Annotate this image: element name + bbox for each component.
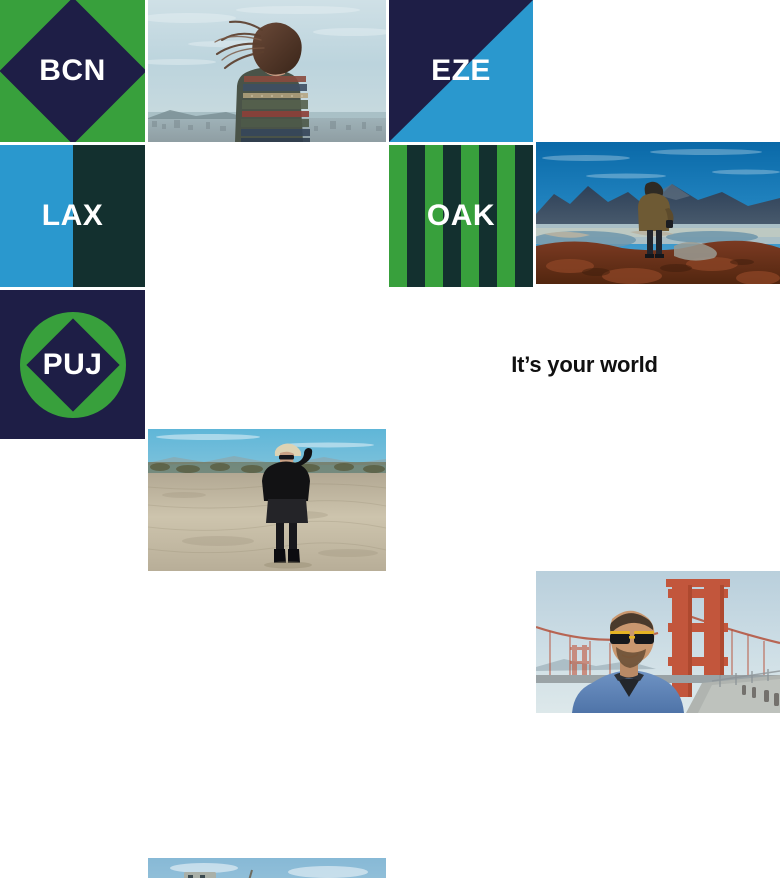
airport-code-puj: PUJ (43, 350, 103, 380)
airport-code-oak: OAK (427, 201, 495, 231)
airport-code-lax: LAX (42, 201, 104, 231)
photo-shipwreck-image (148, 858, 386, 878)
tile-eze[interactable]: EZE (389, 0, 533, 142)
photo-shipwreck[interactable] (148, 858, 386, 878)
brand-tagline: It’s your world (511, 352, 658, 378)
tile-oak[interactable]: OAK (389, 145, 533, 287)
photo-barcelona[interactable] (148, 0, 386, 142)
photo-goldengate[interactable] (536, 571, 780, 713)
photo-desert[interactable] (148, 429, 386, 571)
airport-code-eze: EZE (431, 56, 491, 86)
tagline-tile: It’s your world (389, 290, 780, 439)
photo-goldengate-image (536, 571, 780, 713)
photo-altiplano[interactable] (536, 142, 780, 284)
tile-puj[interactable]: PUJ (0, 290, 145, 439)
photo-altiplano-image (536, 142, 780, 284)
airport-code-bcn: BCN (39, 56, 106, 86)
tile-lax[interactable]: LAX (0, 145, 145, 287)
photo-barcelona-image (148, 0, 386, 142)
brand-collage-board: BCN (0, 0, 780, 439)
photo-desert-image (148, 429, 386, 571)
tile-bcn[interactable]: BCN (0, 0, 145, 142)
